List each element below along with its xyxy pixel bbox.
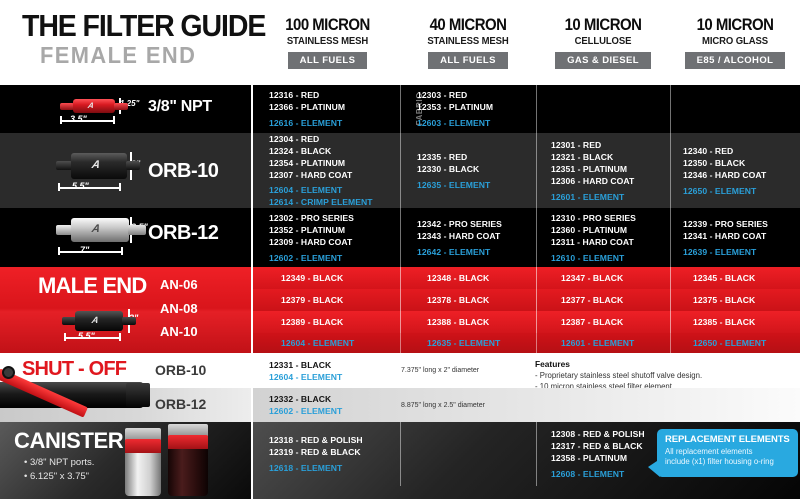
column-title: 10 MICRON (678, 16, 792, 33)
cell-38npt-10micron-microglass (683, 85, 800, 133)
callout-tail-icon (648, 459, 660, 477)
column-badge: GAS & DIESEL (555, 52, 651, 69)
table-row-38-npt: 12316 - RED 12366 - PLATINUM 12616 - ELE… (251, 85, 800, 133)
left-label-panel: A 3.5" 1.25" 3/8" NPT A 5.5" 2" ORB- (0, 85, 251, 499)
table-row-male-end-elements: 12604 - ELEMENT 12635 - ELEMENT 12601 - … (251, 333, 800, 353)
left-row-38-npt: A 3.5" 1.25" 3/8" NPT (0, 85, 251, 133)
filter-orb-12-art: A (56, 218, 146, 242)
column-title: 40 MICRON (408, 16, 528, 33)
cell-male-element-10micron-microglass: 12650 - ELEMENT (693, 337, 800, 349)
row-label-an-10: AN-10 (160, 324, 198, 339)
page-subtitle: FEMALE END (40, 42, 196, 69)
dim-length-38npt: 3.5" (70, 114, 87, 124)
left-row-male-end: MALE END A 5.5" 2" AN-06 AN-08 AN-10 (0, 267, 251, 353)
cell-38npt-10micron-cellulose (551, 85, 669, 133)
dim-length-male-end: 5.5" (78, 331, 95, 341)
cell-male-element-10micron-cellulose: 12601 - ELEMENT (561, 337, 669, 349)
cell-an06-10micron-microglass: 12345 - BLACK (693, 272, 800, 284)
filter-male-end-art: A (62, 311, 136, 331)
canister-black-art (168, 424, 208, 496)
row-label-shutoff-orb-12: ORB-12 (155, 396, 206, 412)
cell-38npt-100micron: 12316 - RED 12366 - PLATINUM 12616 - ELE… (269, 85, 399, 133)
column-badge: E85 / ALCOHOL (685, 52, 786, 69)
section-label-male-end: MALE END (38, 273, 147, 299)
cell-an08-10micron-microglass: 12375 - BLACK (693, 294, 800, 306)
table-row-shutoff-orb-12: 12332 - BLACK 12602 - ELEMENT 8.875" lon… (251, 388, 800, 422)
filter-38-npt-art: A (60, 99, 128, 113)
cell-shutoff-orb10-sku: 12331 - BLACK 12604 - ELEMENT (269, 353, 389, 388)
cell-an10-10micron-microglass: 12385 - BLACK (693, 316, 800, 328)
cell-an06-100micron: 12349 - BLACK (281, 272, 399, 284)
replacement-elements-callout: REPLACEMENT ELEMENTS All replacement ele… (657, 429, 798, 477)
left-row-orb-12: A 7" 2.5" ORB-12 (0, 208, 251, 267)
dim-length-orb10: 5.5" (72, 181, 89, 191)
cell-orb10-10micron-microglass: 12340 - RED 12350 - BLACK 12346 - HARD C… (683, 133, 800, 208)
left-row-canister: CANISTER • 3/8" NPT ports. • 6.125" x 3.… (0, 422, 251, 499)
column-badge: ALL FUELS (428, 52, 508, 69)
canister-polish-art (125, 428, 161, 496)
table-row-orb-10: 12304 - RED 12324 - BLACK 12354 - PLATIN… (251, 133, 800, 208)
cell-an10-40micron: 12388 - BLACK (427, 316, 537, 328)
column-subtitle: MICRO GLASS (673, 36, 797, 47)
cell-an06-10micron-cellulose: 12347 - BLACK (561, 272, 669, 284)
cell-shutoff-orb12-sku: 12332 - BLACK 12602 - ELEMENT (269, 388, 389, 422)
filter-guide-page: A THE FILTER GUIDE FEMALE END 100 MICRON… (0, 0, 800, 499)
cell-orb10-10micron-cellulose: 12301 - RED 12321 - BLACK 12351 - PLATIN… (551, 133, 669, 208)
replacement-title: REPLACEMENT ELEMENTS (665, 434, 791, 445)
feature-item-1: - Proprietary stainless steel shutoff va… (535, 371, 795, 382)
cell-orb12-10micron-microglass: 12339 - PRO SERIES 12341 - HARD COAT 126… (683, 208, 800, 267)
cell-canister-40micron (417, 422, 537, 486)
table-row-orb-12: 12302 - PRO SERIES 12352 - PLATINUM 1230… (251, 208, 800, 267)
cell-an06-40micron: 12348 - BLACK (427, 272, 537, 284)
table-row-shutoff-orb-10: 12331 - BLACK 12604 - ELEMENT 7.375" lon… (251, 353, 800, 388)
cell-male-element-100micron: 12604 - ELEMENT (281, 337, 399, 349)
column-header-100-micron: 100 MICRON STAINLESS MESH ALL FUELS (255, 16, 400, 69)
cell-orb12-10micron-cellulose: 12310 - PRO SERIES 12360 - PLATINUM 1231… (551, 208, 669, 267)
column-subtitle: STAINLESS MESH (259, 36, 397, 47)
column-badge: ALL FUELS (288, 52, 368, 69)
features-block: Features - Proprietary stainless steel s… (535, 353, 795, 388)
replacement-body-2: include (x1) filter housing o-ring (665, 457, 791, 467)
replacement-body-1: All replacement elements (665, 447, 791, 457)
cell-orb12-100micron: 12302 - PRO SERIES 12352 - PLATINUM 1230… (269, 208, 399, 267)
row-label-an-08: AN-08 (160, 301, 198, 316)
row-label-38-npt: 3/8" NPT (148, 98, 212, 116)
column-title: 100 MICRON (264, 16, 392, 33)
column-header-10-micron-cellulose: 10 MICRON CELLULOSE GAS & DIESEL (536, 16, 670, 69)
cell-an10-10micron-cellulose: 12387 - BLACK (561, 316, 669, 328)
cell-male-element-40micron: 12635 - ELEMENT (427, 337, 537, 349)
section-label-canister: CANISTER (14, 428, 123, 454)
cell-an08-40micron: 12378 - BLACK (427, 294, 537, 306)
cell-orb10-100micron: 12304 - RED 12324 - BLACK 12354 - PLATIN… (269, 133, 399, 208)
column-subtitle: STAINLESS MESH (403, 36, 532, 47)
page-title: THE FILTER GUIDE (22, 8, 265, 44)
cell-orb10-40micron: 12335 - RED 12330 - BLACK 12635 - ELEMEN… (417, 133, 537, 208)
panel-divider (251, 85, 253, 499)
canister-bullet-1: • 3/8" NPT ports. (24, 456, 94, 470)
cell-an08-100micron: 12379 - BLACK (281, 294, 399, 306)
cell-shutoff-orb12-dimension: 8.875" long x 2.5" diameter (401, 388, 541, 422)
row-label-orb-10: ORB-10 (148, 160, 218, 183)
cell-an08-10micron-cellulose: 12377 - BLACK (561, 294, 669, 306)
column-header-10-micron-micro-glass: 10 MICRON MICRO GLASS E85 / ALCOHOL (670, 16, 800, 69)
cell-38npt-40micron: 12303 - RED 12353 - PLATINUM 12603 - ELE… (417, 85, 537, 133)
section-label-shut-off: SHUT - OFF (22, 358, 126, 381)
column-title: 10 MICRON (544, 16, 662, 33)
shutoff-valve-end-art (126, 383, 150, 407)
shutoff-pivot-art (2, 366, 15, 379)
cell-canister-100micron: 12318 - RED & POLISH 12319 - RED & BLACK… (269, 422, 399, 486)
canister-bullet-2: • 6.125" x 3.75" (24, 470, 89, 484)
page-header: THE FILTER GUIDE FEMALE END 100 MICRON S… (0, 0, 800, 85)
cell-orb12-40micron: 12342 - PRO SERIES 12343 - HARD COAT 126… (417, 208, 537, 267)
table-row-an-06: 12349 - BLACK 12348 - BLACK 12347 - BLAC… (251, 267, 800, 289)
table-row-an-08: 12379 - BLACK 12378 - BLACK 12377 - BLAC… (251, 289, 800, 311)
row-label-orb-12: ORB-12 (148, 222, 218, 245)
row-label-shutoff-orb-10: ORB-10 (155, 362, 206, 378)
row-label-an-06: AN-06 (160, 277, 198, 292)
column-header-40-micron: 40 MICRON STAINLESS MESH ALL FUELS (400, 16, 536, 69)
table-row-an-10: 12389 - BLACK 12388 - BLACK 12387 - BLAC… (251, 311, 800, 333)
cell-shutoff-orb10-dimension: 7.375" long x 2" diameter (401, 353, 531, 388)
cell-an10-100micron: 12389 - BLACK (281, 316, 399, 328)
filter-orb-10-art: A (56, 153, 140, 179)
dim-length-orb12: 7" (80, 245, 89, 255)
column-subtitle: CELLULOSE (539, 36, 666, 47)
left-row-orb-10: A 5.5" 2" ORB-10 (0, 133, 251, 208)
